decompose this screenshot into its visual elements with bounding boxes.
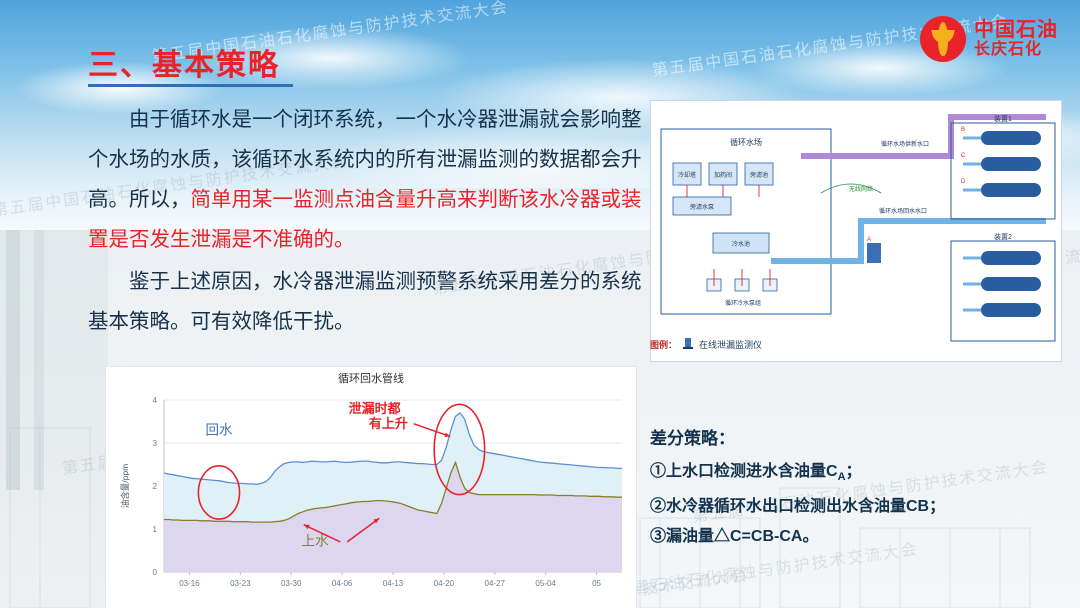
legend-text: 在线泄漏监测仪 [699, 338, 762, 351]
company-logo: 中国石油 长庆石化 [920, 16, 1058, 62]
strategy-item-1: ①上水口检测进水含油量CA； [650, 457, 1060, 492]
svg-text:循环水场: 循环水场 [730, 137, 762, 147]
logo-line1: 中国石油 [974, 19, 1058, 41]
svg-text:1: 1 [153, 525, 158, 534]
monitor-device-icon [681, 336, 695, 352]
svg-text:冷水池: 冷水池 [732, 240, 750, 248]
svg-text:油含量/ppm: 油含量/ppm [120, 464, 130, 508]
strategy-item-1-text: ①上水口检测进水含油量C [650, 463, 838, 480]
svg-text:4: 4 [153, 396, 158, 405]
chart-title: 循环回水管线 [106, 367, 636, 386]
body-text: 由于循环水是一个闭环系统，一个水冷器泄漏就会影响整个水场的水质，该循环水系统内的… [88, 100, 648, 344]
title-underline [88, 84, 293, 87]
svg-text:03-16: 03-16 [179, 579, 200, 588]
svg-text:3: 3 [153, 439, 158, 448]
svg-text:0: 0 [153, 568, 158, 577]
svg-text:04-13: 04-13 [383, 579, 404, 588]
svg-text:旁滤水泵: 旁滤水泵 [690, 203, 714, 211]
svg-text:有上升: 有上升 [369, 416, 408, 431]
chart-panel: 循环回水管线 01234油含量/ppm03-1603-2303-3004-060… [105, 366, 637, 608]
petrochina-logo-icon [920, 16, 966, 62]
svg-text:冷却塔: 冷却塔 [678, 171, 696, 179]
svg-text:D: D [961, 179, 966, 185]
svg-text:泄漏时都: 泄漏时都 [349, 401, 401, 416]
svg-text:循环水场供新水口: 循环水场供新水口 [881, 140, 929, 148]
svg-text:装置1: 装置1 [994, 114, 1012, 123]
svg-text:装置2: 装置2 [994, 232, 1012, 241]
strategy-title: 差分策略： [650, 424, 1060, 449]
system-diagram-svg: 循环水场 冷却塔 加药间 旁滤池 旁滤水泵 冷水池 循环冷水泵组 [651, 101, 1061, 361]
svg-text:A: A [867, 237, 871, 243]
page-title: 三、基本策略 [88, 40, 280, 84]
svg-text:C: C [961, 153, 966, 159]
svg-text:05: 05 [592, 579, 601, 588]
strategy-item-3: ③漏油量△C=CB-CA。 [650, 522, 1060, 552]
svg-text:04-27: 04-27 [485, 579, 506, 588]
svg-text:上水: 上水 [302, 533, 329, 548]
chart-svg: 01234油含量/ppm03-1603-2303-3004-0604-1304-… [106, 386, 636, 608]
svg-text:03-30: 03-30 [281, 579, 302, 588]
svg-text:2: 2 [153, 482, 158, 491]
svg-text:回水: 回水 [205, 422, 232, 437]
paragraph-2: 鉴于上述原因，水冷器泄漏监测预警系统采用差分的系统基本策略。可有效降低干扰。 [88, 262, 648, 342]
svg-text:04-20: 04-20 [434, 579, 455, 588]
strategy-item-1-tail: ； [846, 463, 862, 480]
system-diagram: 循环水场 冷却塔 加药间 旁滤池 旁滤水泵 冷水池 循环冷水泵组 [650, 100, 1062, 362]
strategy-item-2: ②水冷器循环水出口检测出水含油量CB； [650, 492, 1060, 522]
svg-text:无线网络: 无线网络 [849, 185, 873, 193]
strategy-panel: 差分策略： ①上水口检测进水含油量CA； ②水冷器循环水出口检测出水含油量CB；… [648, 420, 1060, 585]
paragraph-1: 由于循环水是一个闭环系统，一个水冷器泄漏就会影响整个水场的水质，该循环水系统内的… [88, 100, 648, 260]
svg-text:B: B [961, 127, 965, 133]
slide-root: 第五届中国石油石化腐蚀与防护技术交流大会 第五届中国石油石化腐蚀与防护技术交流大… [0, 0, 1080, 608]
svg-text:循环冷水泵组: 循环冷水泵组 [725, 299, 761, 307]
legend-label: 图例： [650, 338, 677, 351]
svg-text:05-04: 05-04 [535, 579, 556, 588]
svg-text:04-06: 04-06 [332, 579, 353, 588]
logo-line2: 长庆石化 [974, 41, 1058, 59]
svg-text:旁滤池: 旁滤池 [750, 171, 768, 179]
svg-text:加药间: 加药间 [714, 171, 732, 179]
strategy-item-1-sub: A [838, 471, 846, 483]
diagram-legend: 图例： 在线泄漏监测仪 [650, 336, 1060, 352]
svg-text:03-23: 03-23 [230, 579, 251, 588]
svg-text:循环水场回水水口: 循环水场回水水口 [879, 207, 927, 215]
logo-text: 中国石油 长庆石化 [974, 19, 1058, 59]
